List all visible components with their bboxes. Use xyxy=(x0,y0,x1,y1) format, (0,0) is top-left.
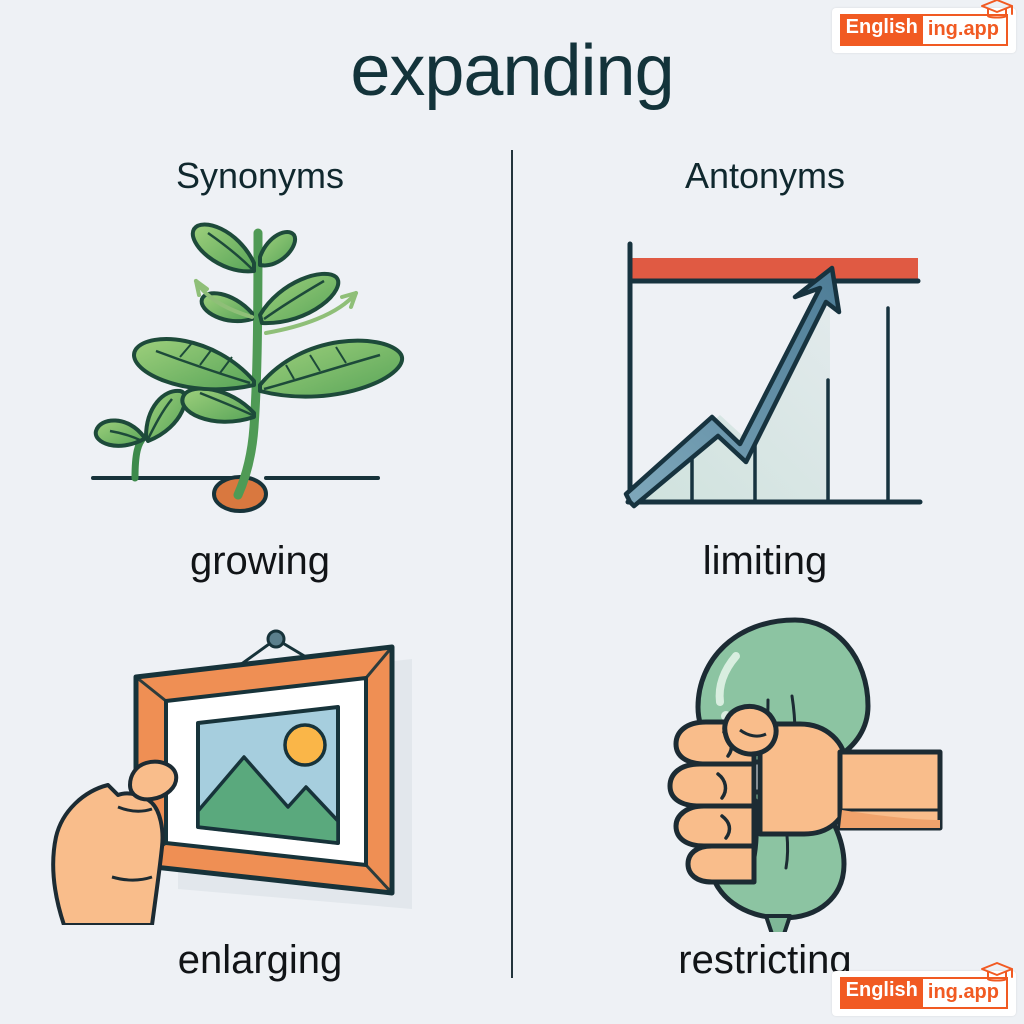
limit-ceiling-bar xyxy=(630,258,918,280)
synonyms-heading: Synonyms xyxy=(60,155,460,197)
antonyms-heading: Antonyms xyxy=(565,155,965,197)
logo-text-english: English xyxy=(840,977,923,1009)
enlarging-frame-illustration xyxy=(48,615,448,925)
restricting-balloon-illustration xyxy=(640,612,950,932)
column-divider xyxy=(511,150,513,978)
hand-holding-frame xyxy=(53,762,176,925)
illustration-canvas: expanding Synonyms Antonyms xyxy=(0,0,1024,1024)
graduation-cap-icon xyxy=(980,0,1014,20)
word-label-enlarging: enlarging xyxy=(60,938,460,983)
word-label-growing: growing xyxy=(60,539,460,584)
sun-icon xyxy=(285,725,325,765)
balloon-knot xyxy=(766,916,790,932)
logo-badge-top[interactable]: English ing.app xyxy=(832,8,1016,53)
growing-plant-illustration xyxy=(88,215,438,525)
word-label-limiting: limiting xyxy=(565,539,965,584)
graduation-cap-icon xyxy=(980,961,1014,983)
logo-text-english: English xyxy=(840,14,923,46)
limiting-chart-illustration xyxy=(600,240,950,525)
sprout xyxy=(96,391,185,478)
logo-badge-bottom[interactable]: English ing.app xyxy=(832,971,1016,1016)
